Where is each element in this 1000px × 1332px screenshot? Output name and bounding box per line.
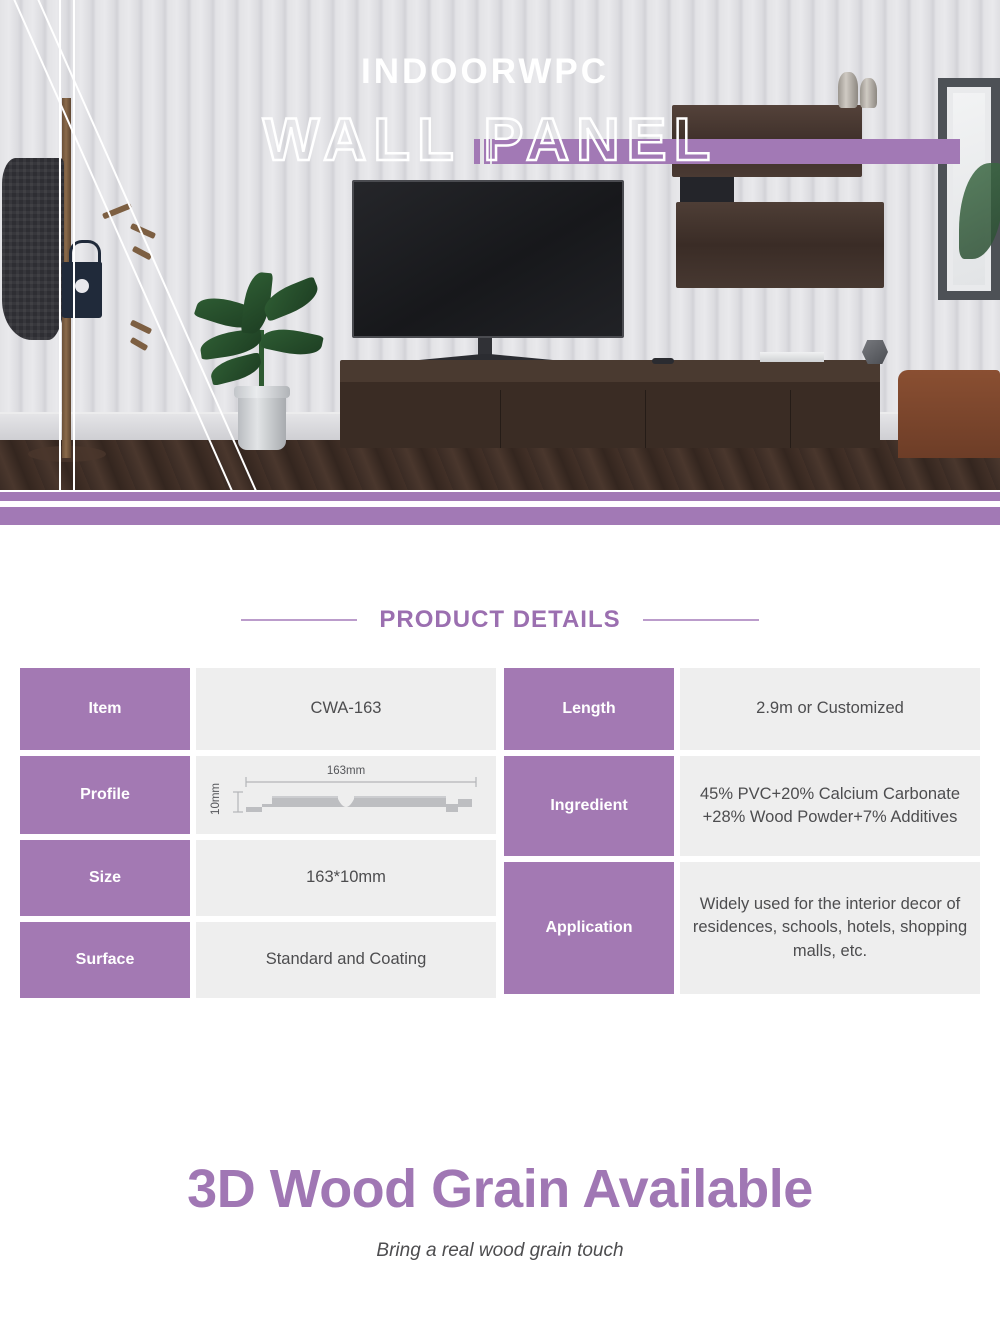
spec-key-length: Length [504,668,674,750]
artwork-leaf-motif [959,163,1000,259]
television-stand-neck [478,338,492,356]
product-details-heading: PRODUCT DETAILS [0,606,1000,634]
spec-key-profile: Profile [20,756,190,834]
closing-subtitle: Bring a real wood grain touch [0,1240,1000,1262]
spec-value-length: 2.9m or Customized [680,668,980,750]
hero-banner: INDOORWPC WALL PANEL [0,0,1000,490]
table-row: Surface Standard and Coating [20,922,496,998]
table-row: Size 163*10mm [20,840,496,916]
hanging-coat [2,158,64,340]
spec-key-size: Size [20,840,190,916]
hero-product-title: WALL PANEL [0,105,1000,174]
specification-table: Item CWA-163 Profile 163mm 10mm [20,668,980,998]
separator-bar-thick [0,507,1000,525]
separator-bar-thin [0,492,1000,501]
sofa [898,370,1000,458]
spec-column-left: Item CWA-163 Profile 163mm 10mm [20,668,496,998]
spec-value-application: Widely used for the interior decor of re… [680,862,980,994]
lower-wall-cabinet [676,202,884,288]
closing-section: 3D Wood Grain Available Bring a real woo… [0,1158,1000,1262]
table-row: Profile 163mm 10mm [20,756,496,834]
spec-value-item: CWA-163 [196,668,496,750]
spec-value-size: 163*10mm [196,840,496,916]
heading-rule-right [643,619,759,621]
table-row: Item CWA-163 [20,668,496,750]
profile-thickness-label: 10mm [208,783,224,815]
heading-rule-left [241,619,357,621]
spec-value-surface: Standard and Coating [196,922,496,998]
console-seam [645,390,646,448]
profile-width-label: 163mm [210,763,482,779]
television [352,180,624,338]
console-seam [790,390,791,448]
tote-bag-logo [75,279,89,293]
book-on-console [760,352,824,362]
spec-key-item: Item [20,668,190,750]
tote-bag [62,262,102,318]
heading-text: PRODUCT DETAILS [379,606,620,634]
table-row: Ingredient 45% PVC+20% Calcium Carbonate… [504,756,980,856]
spec-column-right: Length 2.9m or Customized Ingredient 45%… [504,668,980,998]
profile-diagram: 163mm 10mm [210,763,482,827]
console-seam [500,390,501,448]
table-row: Length 2.9m or Customized [504,668,980,750]
table-row: Application Widely used for the interior… [504,862,980,994]
spec-value-ingredient: 45% PVC+20% Calcium Carbonate +28% Wood … [680,756,980,856]
spec-key-surface: Surface [20,922,190,998]
hero-brand-title: INDOORWPC [0,52,1000,92]
spec-value-profile: 163mm 10mm [196,756,496,834]
spec-key-ingredient: Ingredient [504,756,674,856]
plant-pot [238,392,286,450]
closing-title: 3D Wood Grain Available [0,1158,1000,1220]
spec-key-application: Application [504,862,674,994]
remote-control [652,358,674,364]
tv-console [340,360,880,448]
